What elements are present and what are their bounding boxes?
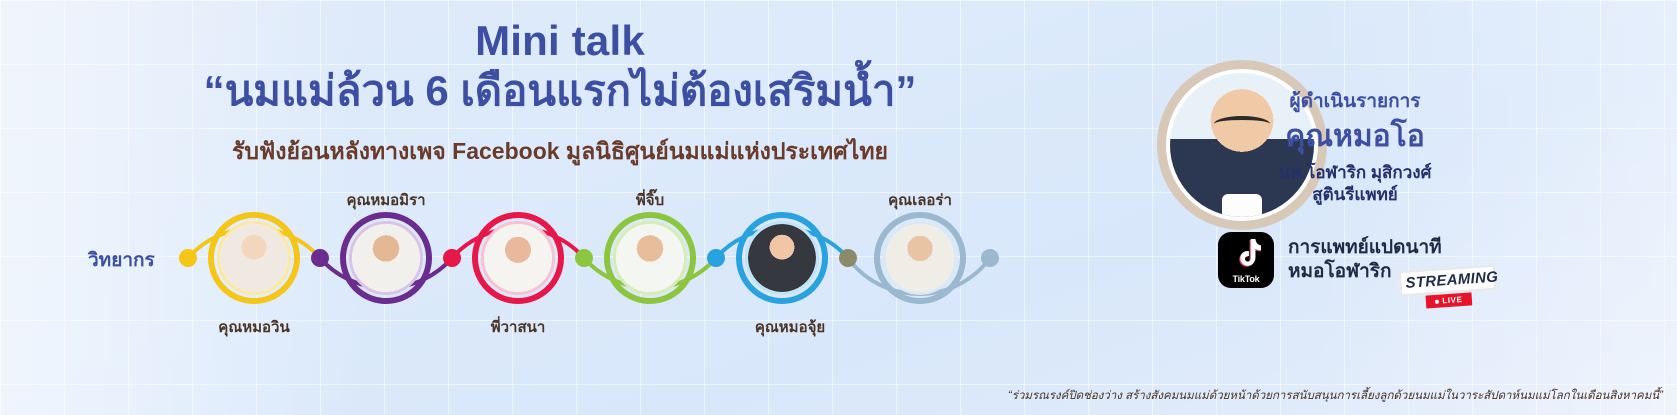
tiktok-icon[interactable]: TikTok: [1218, 232, 1274, 288]
tiktok-channel-line1: การแพทย์แปดนาที: [1288, 236, 1442, 260]
role-label-speakers: วิทยากร: [88, 245, 155, 275]
host-specialty: สูตินรีแพทย์: [1215, 184, 1495, 207]
host-full-name: นพ.โอฬาริก มุสิกวงศ์: [1215, 162, 1495, 185]
subtitle-text: รับฟังย้อนหลังทางเพจ Facebook มูลนิธิศูน…: [0, 134, 1120, 170]
speaker-timeline: คุณหมอวิน คุณหมอมิรา พี่วาสนา พี่จิ๊บ คุ…: [0, 180, 1060, 340]
host-nickname: คุณหมอโอ: [1215, 120, 1495, 155]
speaker-label-3: พี่วาสนา: [491, 315, 546, 339]
speaker-label-4: พี่จิ๊บ: [636, 188, 664, 212]
campaign-footer-note: “ร่วมรณรงค์ปิดช่องว่าง สร้างสังคมนมแม่ด้…: [840, 387, 1663, 405]
tiktok-note-glyph: [1231, 238, 1261, 270]
speaker-avatar-2[interactable]: [349, 221, 423, 295]
speaker-avatar-4[interactable]: [613, 221, 687, 295]
speaker-label-2: คุณหมอมิรา: [346, 188, 425, 212]
speaker-label-5: คุณหมอจุ้ย: [755, 315, 825, 339]
speaker-avatar-6[interactable]: [883, 221, 957, 295]
live-dot-icon: [1435, 299, 1439, 303]
headline-block: Mini talk “นมแม่ล้วน 6 เดือนแรกไม่ต้องเส…: [0, 18, 1120, 170]
mini-talk-banner: Mini talk “นมแม่ล้วน 6 เดือนแรกไม่ต้องเส…: [0, 0, 1677, 415]
speaker-label-1: คุณหมอวิน: [218, 315, 289, 339]
host-role-label: ผู้ดำเนินรายการ: [1215, 86, 1495, 116]
live-indicator: LIVE: [1426, 292, 1473, 308]
host-info: ผู้ดำเนินรายการ คุณหมอโอ นพ.โอฬาริก มุสิ…: [1215, 86, 1495, 207]
title-thai: “นมแม่ล้วน 6 เดือนแรกไม่ต้องเสริมน้ำ”: [0, 65, 1120, 118]
streaming-label: STREAMING: [1399, 265, 1497, 297]
speaker-avatar-3[interactable]: [481, 221, 555, 295]
speaker-avatar-5[interactable]: [745, 221, 819, 295]
speaker-avatar-1[interactable]: [217, 221, 291, 295]
streaming-badge: STREAMING LIVE: [1399, 265, 1497, 311]
live-label: LIVE: [1442, 295, 1463, 305]
speaker-label-6: คุณเลอร่า: [888, 188, 952, 212]
title-english: Mini talk: [0, 18, 1120, 63]
tiktok-wordmark: TikTok: [1218, 274, 1274, 284]
